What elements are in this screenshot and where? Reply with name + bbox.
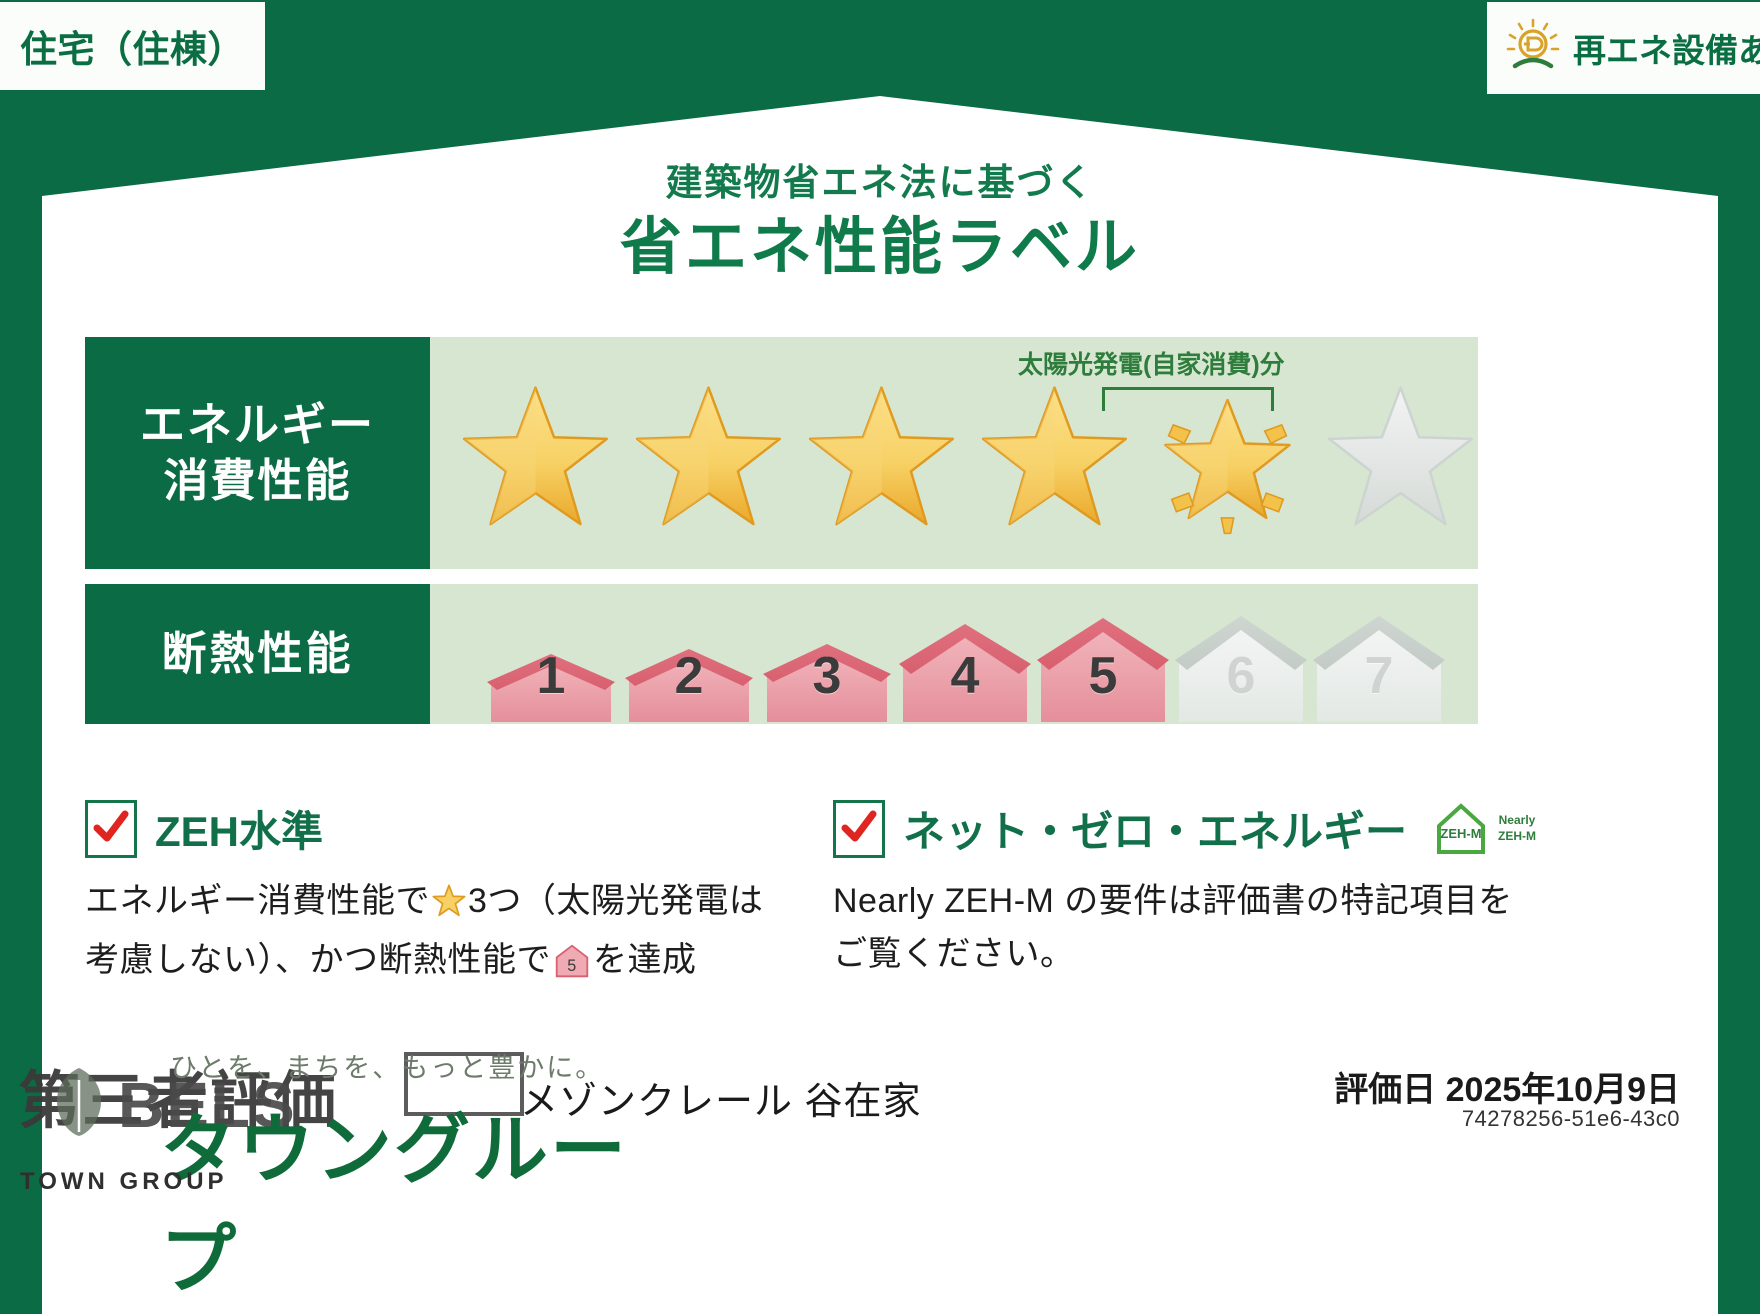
zeh-standard-description: エネルギー消費性能で3つ（太陽光発電は考慮しない）、かつ断熱性能で5を達成: [85, 875, 785, 994]
insulation-level-number: 1: [537, 646, 566, 724]
claim-net-zero-energy-header: ネット・ゼロ・エネルギー ZEH-M Nearly ZEH-M: [833, 798, 1533, 859]
evaluation-date: 評価日 2025年10月9日: [1334, 1062, 1680, 1111]
insulation-level-3: 3: [761, 640, 893, 724]
claim-zeh-standard-header: ZEH水準: [85, 798, 785, 859]
property-name: メゾンクレール 谷在家: [520, 1070, 922, 1125]
label-canvas: 住宅（住棟） 再エネ設備あり 建築物省エネ法に基づく: [0, 0, 1760, 1314]
net-zero-energy-description: Nearly ZEH-M の要件は評価書の特記項目をご覧ください。: [833, 875, 1533, 980]
insulation-label-line1: 断熱性能: [161, 626, 353, 682]
energy-performance-row: エネルギー 消費性能 太陽光発電(自家消費)分: [85, 337, 1478, 569]
insulation-level-number: 4: [951, 646, 980, 724]
insulation-level-scale: 1 2 3: [485, 584, 1445, 724]
solar-annotation-text: 太陽光発電(自家消費)分: [1018, 345, 1285, 381]
energy-label-line2: 消費性能: [163, 453, 351, 509]
insulation-level-number: 5: [1089, 646, 1118, 724]
zeh-desc-post: を達成: [593, 941, 697, 979]
star-rating: [458, 383, 1478, 535]
claim-net-zero-energy: ネット・ゼロ・エネルギー ZEH-M Nearly ZEH-M Nearly Z…: [833, 798, 1533, 994]
energy-label-line1: エネルギー: [140, 397, 375, 453]
svg-text:5: 5: [567, 957, 576, 975]
svg-text:Nearly: Nearly: [1499, 813, 1536, 827]
label-title: 省エネ性能ラベル: [0, 196, 1760, 286]
svg-text:ZEH-M: ZEH-M: [1440, 826, 1481, 841]
certification-claims: ZEH水準 エネルギー消費性能で3つ（太陽光発電は考慮しない）、かつ断熱性能で5…: [85, 798, 1685, 994]
insulation-performance-label: 断熱性能: [85, 584, 430, 724]
star-filled: [977, 383, 1132, 535]
footer-right-edge: [1718, 1046, 1760, 1314]
insulation-level-number: 2: [675, 646, 704, 724]
net-zero-energy-checkbox[interactable]: [833, 800, 885, 858]
category-tag-label: 住宅（住棟）: [20, 19, 245, 73]
insulation-level-number: 7: [1365, 646, 1394, 724]
insulation-level-number: 6: [1227, 646, 1256, 724]
energy-rating-area: 太陽光発電(自家消費)分: [430, 337, 1478, 569]
insulation-rating-area: 1 2 3: [430, 584, 1478, 724]
star-filled: [458, 383, 613, 535]
net-zero-energy-title: ネット・ゼロ・エネルギー: [903, 798, 1407, 859]
star-filled: [804, 383, 959, 535]
insulation-level-1: 1: [485, 652, 617, 724]
insulation-performance-row: 断熱性能 1: [85, 584, 1478, 724]
zeh-m-logo: ZEH-M Nearly ZEH-M: [1435, 800, 1553, 858]
category-tag: 住宅（住棟）: [0, 2, 265, 90]
insulation-level-7: 7: [1313, 612, 1445, 724]
insulation-level-4: 4: [899, 620, 1031, 724]
renewable-energy-badge-label: 再エネ設備あり: [1573, 24, 1760, 72]
insulation-level-number: 3: [813, 646, 842, 724]
insulation-level-2: 2: [623, 646, 755, 724]
star-empty: [1323, 383, 1478, 535]
energy-performance-label: エネルギー 消費性能: [85, 337, 430, 569]
svg-text:ZEH-M: ZEH-M: [1498, 829, 1536, 843]
evaluation-id: 74278256-51e6-43c0: [1462, 1106, 1680, 1132]
renewable-energy-badge: 再エネ設備あり: [1487, 2, 1760, 94]
inline-star-icon: [432, 888, 466, 926]
town-group-subtext: TOWN GROUP: [20, 1168, 228, 1196]
insulation-level-5: 5: [1037, 614, 1169, 724]
zeh-standard-title: ZEH水準: [155, 798, 323, 859]
solar-energy-icon: [1503, 16, 1563, 81]
zeh-standard-checkbox[interactable]: [85, 800, 137, 858]
claim-zeh-standard: ZEH水準 エネルギー消費性能で3つ（太陽光発電は考慮しない）、かつ断熱性能で5…: [85, 798, 785, 994]
insulation-level-6: 6: [1175, 612, 1307, 724]
star-filled-solar: [1150, 383, 1305, 535]
inline-house-badge: 5: [554, 949, 590, 987]
star-filled: [631, 383, 786, 535]
zeh-desc-pre: エネルギー消費性能で: [85, 882, 430, 920]
